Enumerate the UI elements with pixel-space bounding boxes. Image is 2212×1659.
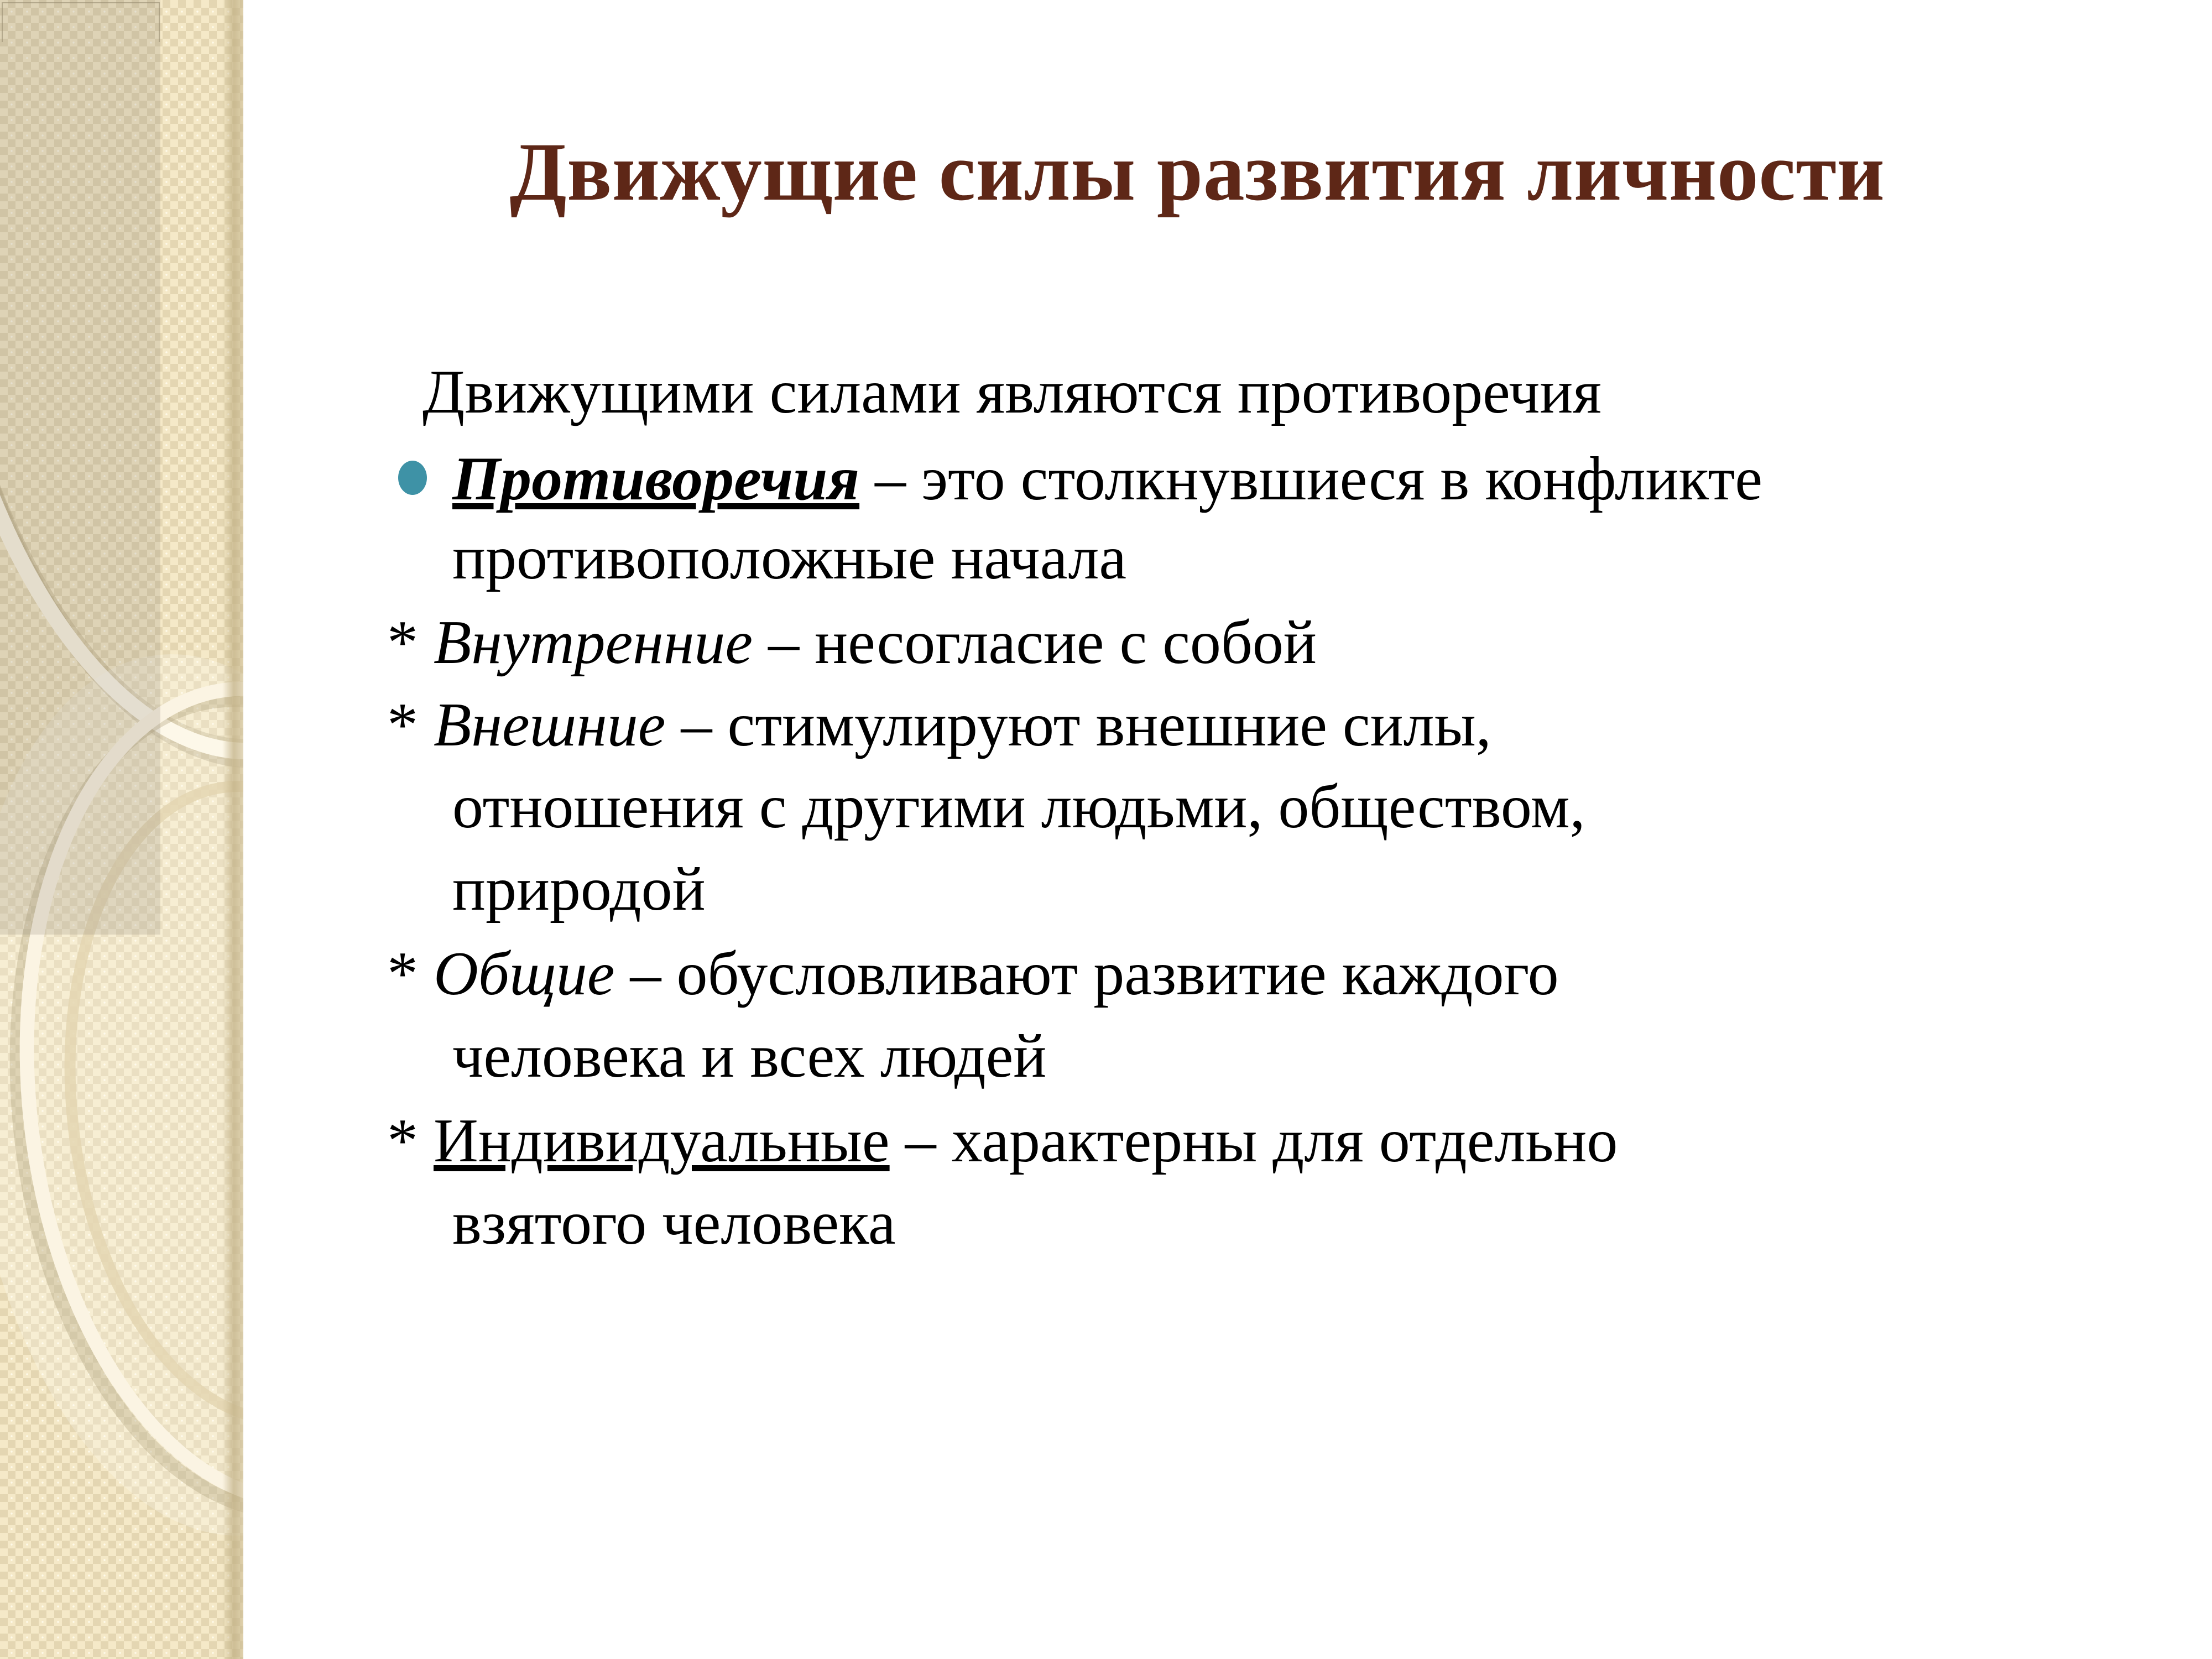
list-item-continuation: отношения с другими людьми, обществом, [387,769,2129,846]
list-item-continuation: природой [387,851,2129,928]
list-item: * Общие – обусловливают развитие каждого [387,936,2129,1013]
list-item-dash: – [859,445,921,513]
slide-content: Движущие силы развития личности Движущим… [243,0,2212,1659]
list-item-text: характерны для отдельно [952,1107,1618,1175]
list-item-term: Противоречия [452,445,859,513]
intro-line: Движущими силами являются противоречия [387,354,2129,431]
list-item-term: Индивидуальные [434,1107,890,1175]
list-item-term: Внешние [434,691,666,759]
sidebar-overlay-outline [2,2,160,42]
asterisk-marker: * [387,940,418,1008]
page-title: Движущие силы развития личности [243,128,2151,216]
decorative-sidebar [0,0,243,1659]
list-item-continuation: человека и всех людей [387,1018,2129,1095]
list-item-text: это столкнувшиеся в конфликте [921,445,1762,513]
body-text-block: Движущими силами являются противоречия П… [387,354,2129,1267]
asterisk-marker: * [387,691,418,759]
list-item: * Индивидуальные – характерны для отдель… [387,1103,2129,1180]
bullet-ellipse-icon [398,461,427,495]
list-item-dash: – [666,691,728,759]
asterisk-marker: * [387,1107,418,1175]
list-item-text: стимулируют внешние силы, [728,691,1491,759]
presentation-slide: Движущие силы развития личности Движущим… [0,0,2212,1659]
list-item-text: обусловливают развитие каждого [676,940,1558,1008]
list-item-dash: – [753,608,815,677]
list-item-dash: – [614,940,676,1008]
list-item-text: несогласие с собой [815,608,1317,677]
list-item-term: Общие [434,940,614,1008]
list-item-continuation: взятого человека [387,1185,2129,1262]
sidebar-right-edge [222,0,243,1659]
list-item-continuation: противоположные начала [387,520,2129,597]
list-item: * Внешние – стимулируют внешние силы, [387,687,2129,764]
list-item-term: Внутренние [434,608,753,677]
list-item: Противоречия – это столкнувшиеся в конфл… [387,441,2129,518]
list-item: * Внутренние – несогласие с собой [387,604,2129,681]
sidebar-grey-overlay [0,0,160,935]
list-item-dash: – [890,1107,952,1175]
asterisk-marker: * [387,608,418,677]
